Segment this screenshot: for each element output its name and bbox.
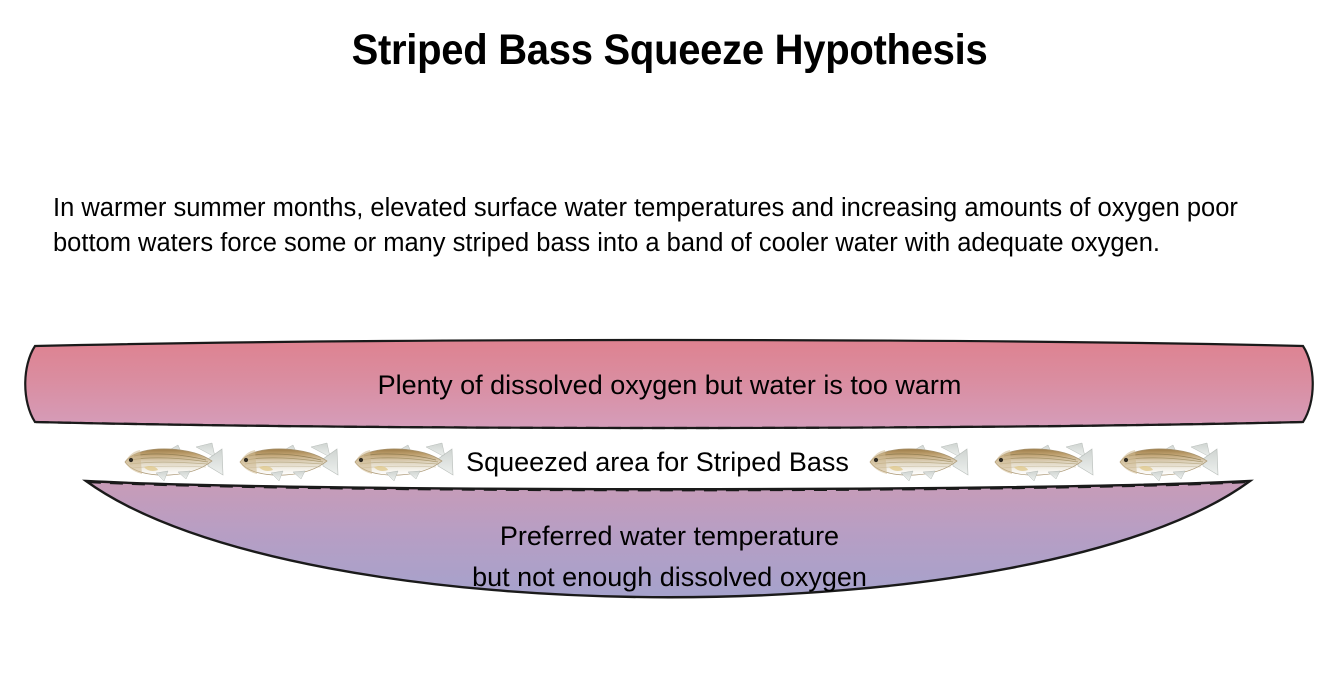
page-title: Striped Bass Squeeze Hypothesis	[47, 24, 1292, 76]
striped-bass-icon	[350, 441, 454, 483]
striped-bass-icon	[865, 441, 969, 483]
cold-water-shape	[86, 481, 1250, 597]
squeeze-diagram: Plenty of dissolved oxygen but water is …	[0, 336, 1339, 666]
squeeze-layer-row: Squeezed area for Striped Bass	[0, 436, 1339, 488]
intro-paragraph: In warmer summer months, elevated surfac…	[53, 191, 1293, 261]
striped-bass-icon	[120, 441, 224, 483]
warm-water-band	[25, 340, 1313, 428]
squeeze-layer-label: Squeezed area for Striped Bass	[456, 445, 859, 479]
fish-group-left	[120, 441, 454, 483]
striped-bass-icon	[1115, 441, 1219, 483]
fish-group-right	[865, 441, 1219, 483]
striped-bass-icon	[990, 441, 1094, 483]
striped-bass-icon	[235, 441, 339, 483]
diagram-shapes	[0, 336, 1339, 666]
